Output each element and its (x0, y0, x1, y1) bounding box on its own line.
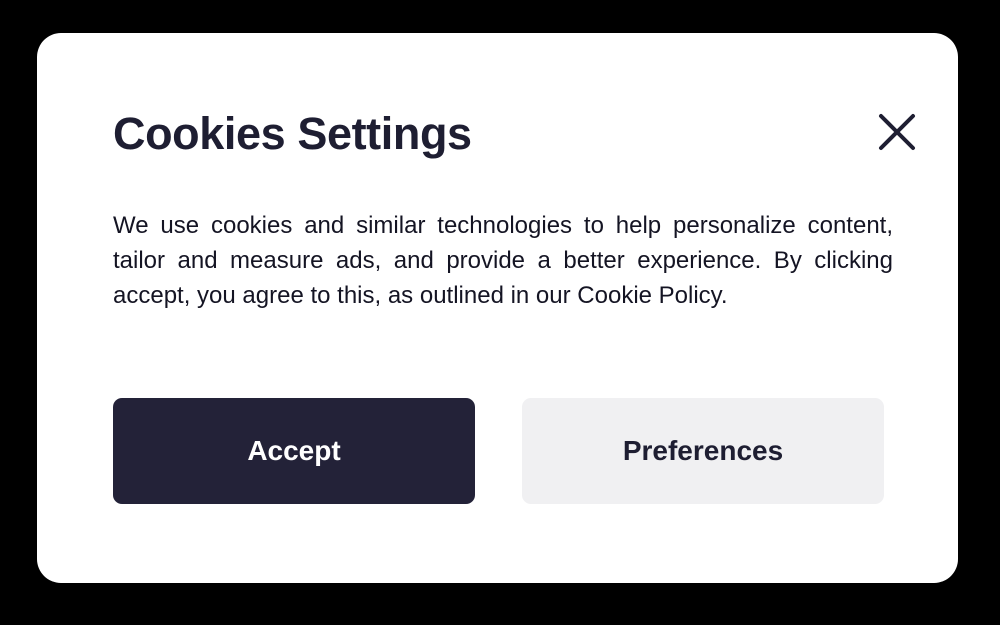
cookies-settings-dialog: Cookies Settings We use cookies and simi… (37, 33, 958, 583)
preferences-button[interactable]: Preferences (522, 398, 884, 504)
page-title: Cookies Settings (113, 105, 472, 163)
close-icon[interactable] (875, 110, 919, 154)
screen: Cookies Settings We use cookies and simi… (0, 0, 1000, 625)
dialog-header: Cookies Settings (113, 105, 919, 167)
dialog-description: We use cookies and similar technologies … (113, 208, 893, 313)
accept-button[interactable]: Accept (113, 398, 475, 504)
dialog-actions: Accept Preferences (113, 398, 884, 504)
